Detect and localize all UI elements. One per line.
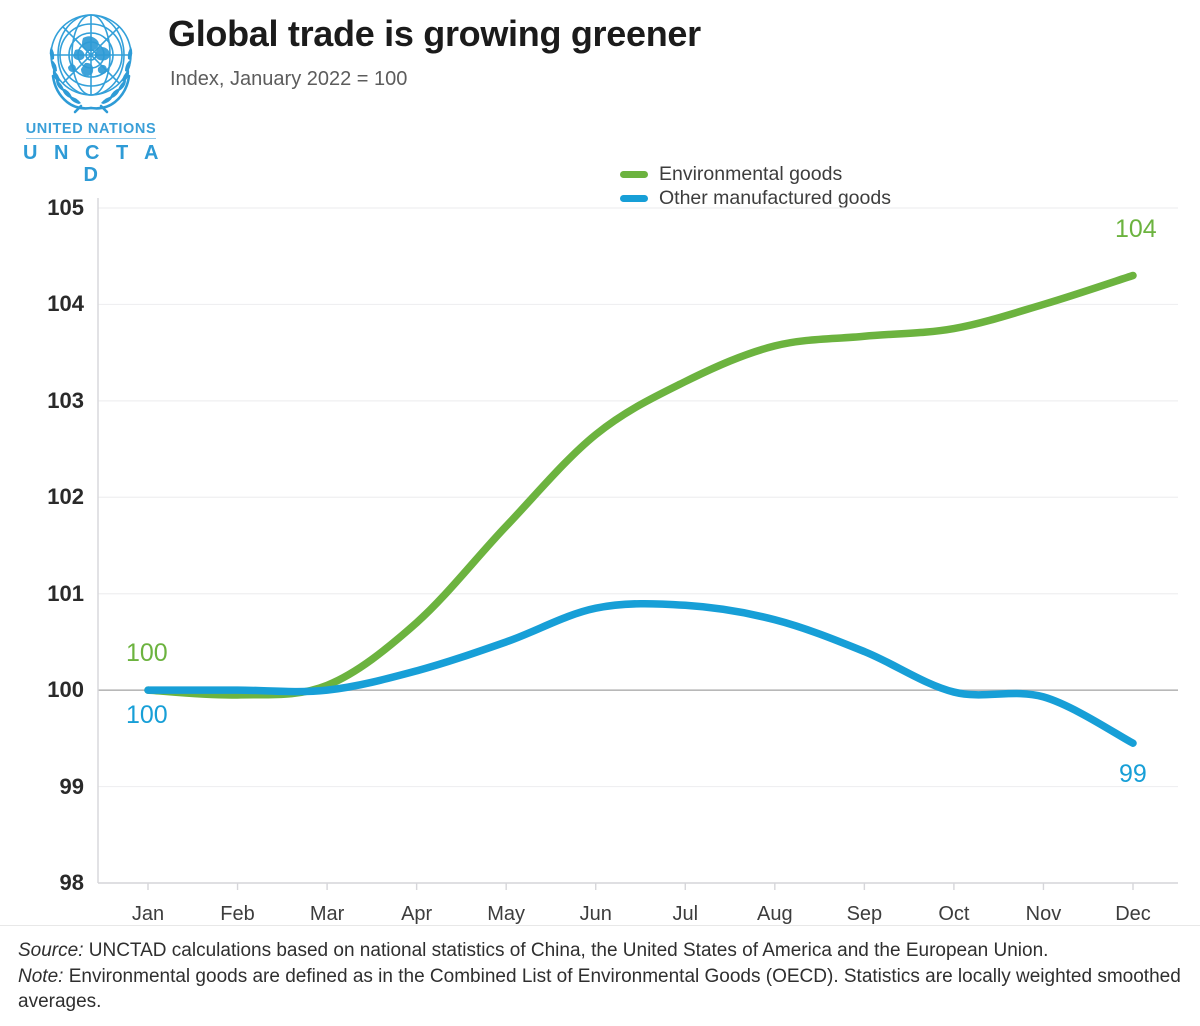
page-title: Global trade is growing greener xyxy=(168,12,701,56)
logo-united-nations-text: UNITED NATIONS xyxy=(26,122,157,139)
page-subtitle: Index, January 2022 = 100 xyxy=(170,66,407,92)
y-tick-label: 102 xyxy=(20,486,84,508)
x-tick-label: Jan xyxy=(103,903,193,925)
x-tick-label: Aug xyxy=(730,903,820,925)
legend-swatch-green xyxy=(620,171,648,178)
x-tick-label: Mar xyxy=(282,903,372,925)
label-blue-start: 100 xyxy=(126,702,168,728)
footnote-source-label: Source: xyxy=(18,940,83,961)
x-tick-label: Oct xyxy=(909,903,999,925)
footnotes: Source: UNCTAD calculations based on nat… xyxy=(18,938,1183,1015)
x-tick-label: Dec xyxy=(1088,903,1178,925)
x-tick-label: May xyxy=(461,903,551,925)
series-line-other-manufactured-goods xyxy=(148,604,1133,743)
footnote-note-label: Note: xyxy=(18,966,63,987)
label-blue-end: 99 xyxy=(1119,761,1147,787)
x-tick-label: Nov xyxy=(998,903,1088,925)
y-tick-label: 104 xyxy=(20,293,84,315)
footer-divider xyxy=(0,925,1200,926)
footnote-source-text: UNCTAD calculations based on national st… xyxy=(83,940,1048,961)
label-green-start: 100 xyxy=(126,640,168,666)
logo-unctad-text: U N C T A D xyxy=(16,142,166,186)
plot-area xyxy=(0,190,1200,910)
un-emblem-icon xyxy=(31,8,151,120)
y-tick-label: 101 xyxy=(20,583,84,605)
y-tick-label: 99 xyxy=(20,776,84,798)
legend-label-environmental-goods: Environmental goods xyxy=(659,162,842,186)
y-tick-label: 100 xyxy=(20,679,84,701)
data-series xyxy=(148,276,1133,744)
y-tick-label: 98 xyxy=(20,872,84,894)
x-tick-label: Sep xyxy=(819,903,909,925)
line-chart: 9899100101102103104105 JanFebMarAprMayJu… xyxy=(0,190,1200,910)
footnote-source: Source: UNCTAD calculations based on nat… xyxy=(18,938,1183,964)
x-tick-label: Jun xyxy=(551,903,641,925)
footnote-note: Note: Environmental goods are defined as… xyxy=(18,964,1183,1015)
label-green-end: 104 xyxy=(1115,216,1157,242)
y-tick-label: 103 xyxy=(20,390,84,412)
x-tick-label: Feb xyxy=(193,903,283,925)
y-tick-label: 105 xyxy=(20,197,84,219)
x-tick-label: Apr xyxy=(372,903,462,925)
x-tick-label: Jul xyxy=(640,903,730,925)
series-line-environmental-goods xyxy=(148,276,1133,696)
unctad-logo: UNITED NATIONS U N C T A D xyxy=(16,8,166,173)
chart-legend: Environmental goods Other manufactured g… xyxy=(620,162,1180,192)
chart-header: UNITED NATIONS U N C T A D Global trade … xyxy=(0,0,1200,150)
footnote-note-text: Environmental goods are defined as in th… xyxy=(18,966,1181,1013)
legend-item-environmental-goods[interactable]: Environmental goods xyxy=(620,162,842,186)
